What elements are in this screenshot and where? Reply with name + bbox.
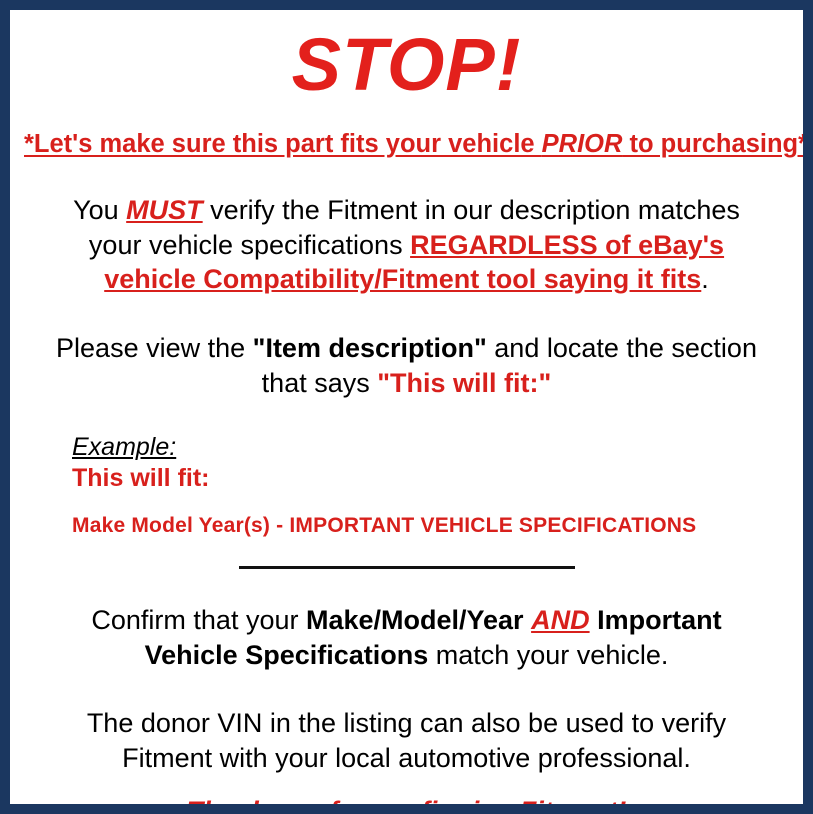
confirm-part2: match your vehicle. — [428, 640, 668, 670]
example-block: Example: This will fit: Make Model Year(… — [24, 434, 789, 537]
example-spec-line: Make Model Year(s) - IMPORTANT VEHICLE S… — [72, 514, 789, 537]
item-description-term: "Item description" — [253, 333, 487, 363]
confirm-paragraph: Confirm that your Make/Model/Year AND Im… — [24, 603, 789, 672]
must-part3: . — [701, 264, 709, 294]
thank-you-message: Thank you for confirming Fitment! — [24, 795, 789, 814]
divider-wrap — [24, 559, 789, 577]
confirm-part1: Confirm that your — [91, 605, 306, 635]
tagline-emphasis-prior: PRIOR — [542, 130, 623, 158]
make-model-year-term: Make/Model/Year — [306, 605, 524, 635]
must-part1: You — [73, 195, 126, 225]
stop-heading: STOP! — [24, 28, 789, 102]
tagline: *Let's make sure this part fits your veh… — [24, 130, 789, 159]
example-will-fit-heading: This will fit: — [72, 465, 789, 493]
section-divider — [239, 566, 575, 569]
fitment-notice-card: STOP! *Let's make sure this part fits yo… — [0, 0, 813, 814]
confirm-space-1 — [524, 605, 532, 635]
confirm-space-2 — [590, 605, 598, 635]
must-verify-paragraph: You MUST verify the Fitment in our descr… — [24, 193, 789, 297]
tagline-prefix: *Let's make sure this part fits your veh… — [24, 130, 542, 158]
desc-part1: Please view the — [56, 333, 253, 363]
and-emphasis: AND — [531, 605, 590, 635]
example-label: Example: — [72, 434, 789, 462]
item-description-paragraph: Please view the "Item description" and l… — [24, 331, 789, 400]
tagline-suffix: to purchasing* — [622, 130, 808, 158]
this-will-fit-term: "This will fit:" — [377, 368, 551, 398]
must-emphasis: MUST — [126, 195, 203, 225]
donor-vin-paragraph: The donor VIN in the listing can also be… — [24, 706, 789, 775]
notice-content: STOP! *Let's make sure this part fits yo… — [10, 28, 803, 814]
